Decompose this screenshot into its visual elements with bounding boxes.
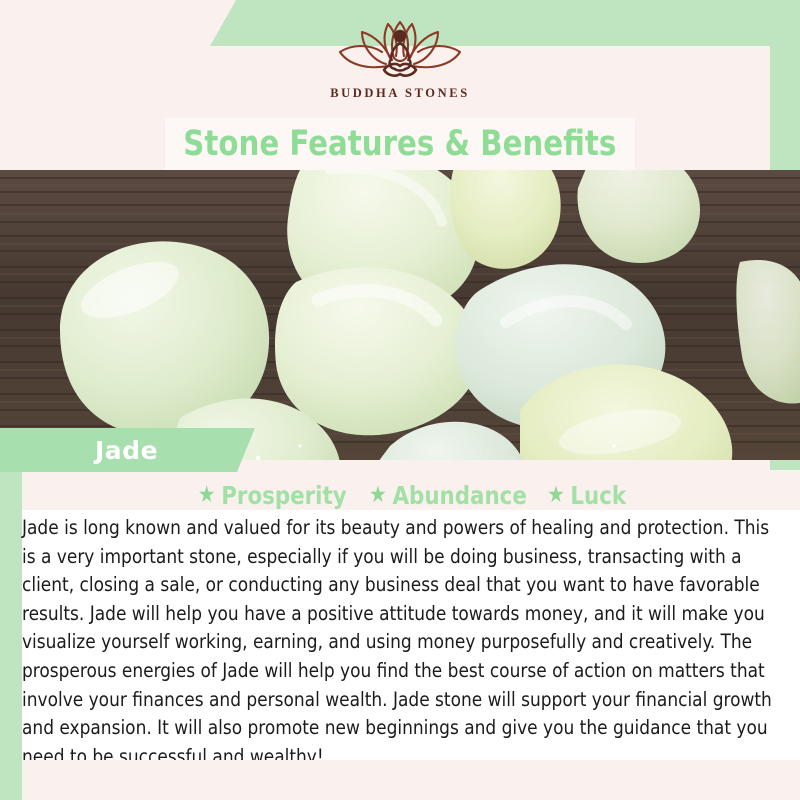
- jade-stones-image: [0, 170, 800, 460]
- stone-info-card: BUDDHA STONES Stone Features & Benefits: [0, 0, 800, 800]
- brand-name: BUDDHA STONES: [330, 86, 470, 101]
- benefit-keywords: ★ Prosperity ★ Abundance ★ Luck: [22, 472, 800, 510]
- keyword-label: Prosperity: [221, 481, 346, 510]
- content-panel: ★ Prosperity ★ Abundance ★ Luck Jade is …: [22, 472, 800, 800]
- lotus-meditation-icon: [326, 14, 474, 84]
- title-banner: Stone Features & Benefits: [165, 118, 635, 170]
- keyword-prosperity: ★ Prosperity: [198, 481, 347, 510]
- stone-name-text: Jade: [95, 436, 158, 465]
- content-bottom-accent: [22, 760, 800, 800]
- stone-photo: [0, 170, 800, 460]
- keyword-abundance: ★ Abundance: [369, 481, 527, 510]
- stone-description: Jade is long known and valued for its be…: [22, 510, 788, 771]
- star-icon: ★: [369, 484, 387, 507]
- keyword-label: Abundance: [392, 481, 526, 510]
- keyword-label: Luck: [570, 481, 626, 510]
- star-icon: ★: [198, 484, 216, 507]
- page-title: Stone Features & Benefits: [183, 124, 616, 164]
- star-icon: ★: [547, 484, 565, 507]
- stone-name-label: Jade: [0, 428, 255, 472]
- keyword-luck: ★ Luck: [547, 481, 626, 510]
- brand-logo: BUDDHA STONES: [0, 14, 800, 114]
